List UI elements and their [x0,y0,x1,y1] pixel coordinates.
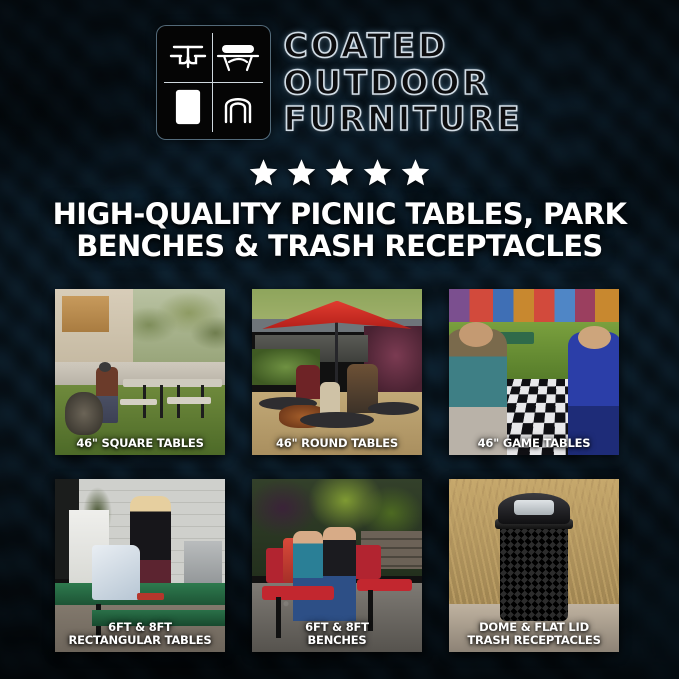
brand-wordmark: COATED OUTDOOR FURNITURE [284,28,523,137]
product-caption: 6FT & 8FT RECTANGULAR TABLES [55,621,225,647]
caption-line-2: BENCHES [255,634,419,647]
picnic-table-icon [164,33,214,83]
star-icon [401,158,430,187]
bench-table-icon [213,33,263,83]
product-photo-square-tables [55,289,225,455]
caption-line-1: 46" GAME TABLES [452,437,616,450]
product-card-game-tables[interactable]: 46" GAME TABLES [449,289,619,455]
advertisement-banner: COATED OUTDOOR FURNITURE HIGH-QUALITY PI… [0,0,679,679]
trash-receptacle-icon [164,83,214,133]
product-grid: 46" SQUARE TABLES 46" ROUND TABLES [55,289,620,652]
logo-icon-grid [157,26,270,139]
caption-line-1: 46" SQUARE TABLES [58,437,222,450]
product-card-trash-receptacles[interactable]: DOME & FLAT LID TRASH RECEPTACLES [449,479,619,652]
headline-line-2: BENCHES & TRASH RECEPTACLES [26,230,653,262]
star-rating [0,158,679,187]
star-icon [325,158,354,187]
caption-line-1: 46" ROUND TABLES [255,437,419,450]
headline-line-1: HIGH-QUALITY PICNIC TABLES, PARK [26,198,653,230]
headline: HIGH-QUALITY PICNIC TABLES, PARK BENCHES… [0,198,679,263]
product-card-square-tables[interactable]: 46" SQUARE TABLES [55,289,225,455]
product-caption: DOME & FLAT LID TRASH RECEPTACLES [449,621,619,647]
wordmark-line-3: FURNITURE [284,101,523,137]
product-photo-game-tables [449,289,619,455]
star-icon [363,158,392,187]
bike-rack-icon [213,83,263,133]
caption-line-2: RECTANGULAR TABLES [58,634,222,647]
caption-line-2: TRASH RECEPTACLES [452,634,616,647]
star-icon [249,158,278,187]
product-photo-round-tables [252,289,422,455]
product-card-rectangular-tables[interactable]: 6FT & 8FT RECTANGULAR TABLES [55,479,225,652]
brand-logo: COATED OUTDOOR FURNITURE [0,26,679,139]
product-caption: 6FT & 8FT BENCHES [252,621,422,647]
product-caption: 46" GAME TABLES [449,437,619,450]
wordmark-line-1: COATED [284,28,523,64]
product-caption: 46" SQUARE TABLES [55,437,225,450]
product-caption: 46" ROUND TABLES [252,437,422,450]
wordmark-line-2: OUTDOOR [284,65,523,101]
product-card-benches[interactable]: 6FT & 8FT BENCHES [252,479,422,652]
product-card-round-tables[interactable]: 46" ROUND TABLES [252,289,422,455]
star-icon [287,158,316,187]
